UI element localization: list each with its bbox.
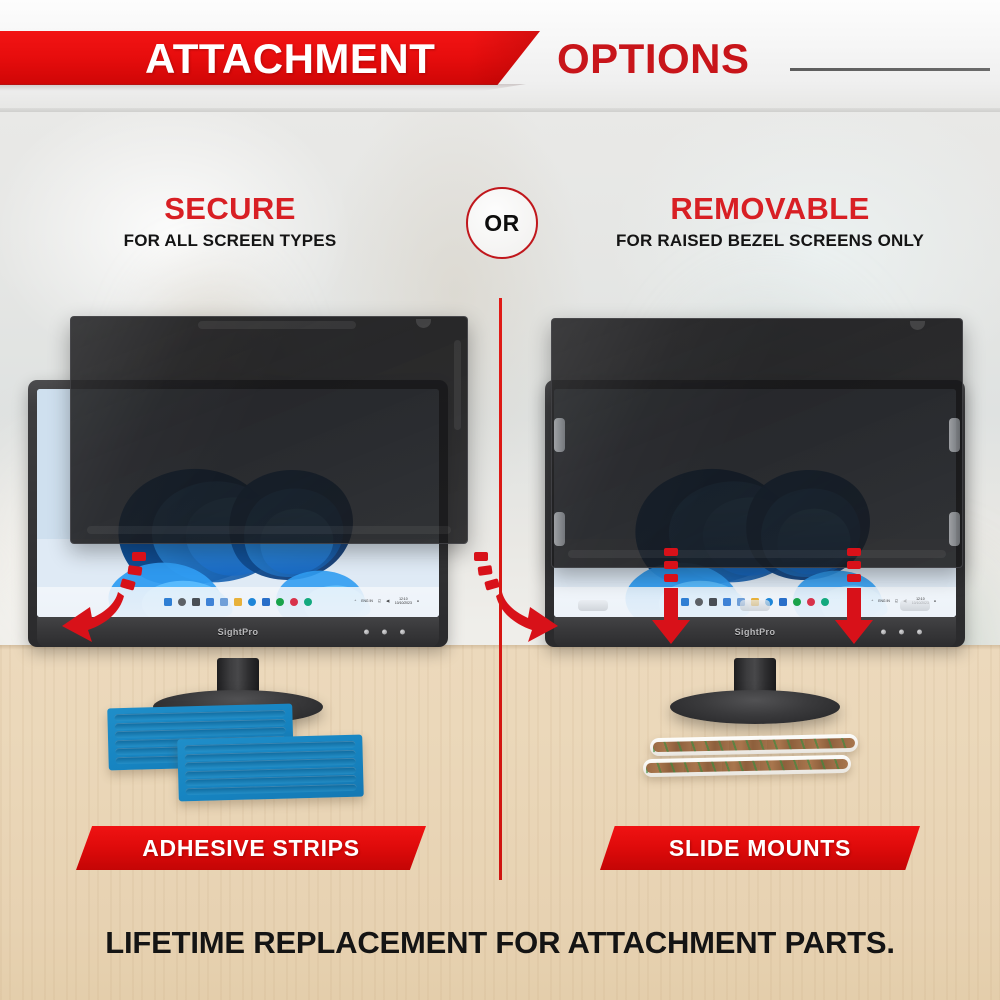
taskview-icon[interactable] <box>709 598 717 606</box>
edge-icon[interactable] <box>248 598 256 606</box>
slide-mount-clip-left-lower <box>554 512 565 546</box>
left-ribbon-label: ADHESIVE STRIPS <box>142 835 360 862</box>
header-rule-line <box>790 68 990 71</box>
slide-mount-clip-right-upper <box>949 418 960 452</box>
footer-tagline: LIFETIME REPLACEMENT FOR ATTACHMENT PART… <box>0 925 1000 961</box>
right-monitor-chin: SightPro <box>554 617 956 647</box>
monitor-button-icon[interactable] <box>899 630 904 635</box>
right-privacy-filter-panel[interactable] <box>551 318 963 568</box>
right-monitor-brand: SightPro <box>735 627 776 637</box>
right-subhead: FOR RAISED BEZEL SCREENS ONLY <box>560 230 980 252</box>
store-icon[interactable] <box>262 598 270 606</box>
or-badge: OR <box>466 187 538 259</box>
right-column-heading: REMOVABLE FOR RAISED BEZEL SCREENS ONLY <box>560 192 980 252</box>
right-slide-arrow-left <box>645 548 697 648</box>
filter-glare <box>71 317 467 543</box>
header-ribbon-shadow <box>0 84 526 91</box>
search-icon[interactable] <box>178 598 186 606</box>
filter-glare <box>552 319 962 567</box>
slide-mount-clip-right-lower <box>949 512 960 546</box>
app-red-icon[interactable] <box>290 598 298 606</box>
filter-right-tab <box>454 340 461 430</box>
tray-chevron-icon[interactable]: ^ <box>355 600 357 604</box>
app-green-icon[interactable] <box>276 598 284 606</box>
slide-mount-clip-left-upper <box>554 418 565 452</box>
monitor-button-icon[interactable] <box>400 630 405 635</box>
left-monitor-control-buttons[interactable] <box>364 630 405 635</box>
monitor-button-icon[interactable] <box>881 630 886 635</box>
slide-mount-clip-bottom-left <box>578 600 608 611</box>
header-title-secondary: OPTIONS <box>557 38 750 80</box>
tray-network-icon[interactable]: ◱ <box>895 600 898 604</box>
tray-language[interactable]: ENG IN <box>361 600 373 604</box>
infographic-canvas: ATTACHMENT OPTIONS SECURE FOR ALL SCREEN… <box>0 0 1000 1000</box>
right-headline: REMOVABLE <box>560 192 980 226</box>
right-monitor-control-buttons[interactable] <box>881 630 922 635</box>
left-headline: SECURE <box>20 192 440 226</box>
monitor-button-icon[interactable] <box>382 630 387 635</box>
widgets-icon[interactable] <box>723 598 731 606</box>
vertical-divider <box>499 298 502 880</box>
slide-mount-clip-bottom-right <box>900 600 930 611</box>
header-bottom-border <box>0 108 1000 112</box>
monitor-button-icon[interactable] <box>917 630 922 635</box>
left-parts-ribbon: ADHESIVE STRIPS <box>76 826 426 870</box>
app-green-icon[interactable] <box>793 598 801 606</box>
widgets-icon[interactable] <box>206 598 214 606</box>
tray-notification-icon[interactable]: ● <box>417 600 419 604</box>
left-privacy-filter-panel[interactable] <box>70 316 468 544</box>
header-title-primary: ATTACHMENT <box>145 38 435 80</box>
left-peel-arrow-left <box>58 550 168 650</box>
filter-top-notch <box>198 321 356 329</box>
tray-volume-icon[interactable]: ◀) <box>386 600 390 604</box>
explorer-icon[interactable] <box>234 598 242 606</box>
left-subhead: FOR ALL SCREEN TYPES <box>20 230 440 252</box>
right-parts-ribbon: SLIDE MOUNTS <box>600 826 920 870</box>
tray-notification-icon[interactable]: ● <box>934 600 936 604</box>
filter-bottom-bar <box>568 550 945 558</box>
left-monitor-brand: SightPro <box>218 627 259 637</box>
left-peel-arrow-right <box>452 550 562 650</box>
taskbar-icon-group[interactable] <box>164 598 312 606</box>
left-column-heading: SECURE FOR ALL SCREEN TYPES <box>20 192 440 252</box>
chat-icon[interactable] <box>220 598 228 606</box>
slide-mount-clip-bottom-mid <box>740 600 770 611</box>
tray-clock[interactable]: 12:1010/10/2023 <box>395 598 412 606</box>
app-teal-icon[interactable] <box>304 598 312 606</box>
right-ribbon-label: SLIDE MOUNTS <box>669 835 851 862</box>
slide-mount-adhesive-core <box>653 738 855 752</box>
filter-bottom-bar <box>87 526 451 534</box>
adhesive-strip-sheet-front <box>177 735 364 802</box>
store-icon[interactable] <box>779 598 787 606</box>
header-banner: ATTACHMENT OPTIONS <box>0 0 1000 112</box>
right-slide-arrow-right <box>828 548 880 648</box>
slide-mount-adhesive-core <box>646 759 848 773</box>
app-red-icon[interactable] <box>807 598 815 606</box>
monitor-button-icon[interactable] <box>364 630 369 635</box>
taskview-icon[interactable] <box>192 598 200 606</box>
tray-network-icon[interactable]: ◱ <box>378 600 381 604</box>
taskbar-system-tray[interactable]: ^ ENG IN ◱ ◀) 12:1010/10/2023 ● <box>355 598 419 606</box>
right-monitor-base <box>670 690 840 724</box>
